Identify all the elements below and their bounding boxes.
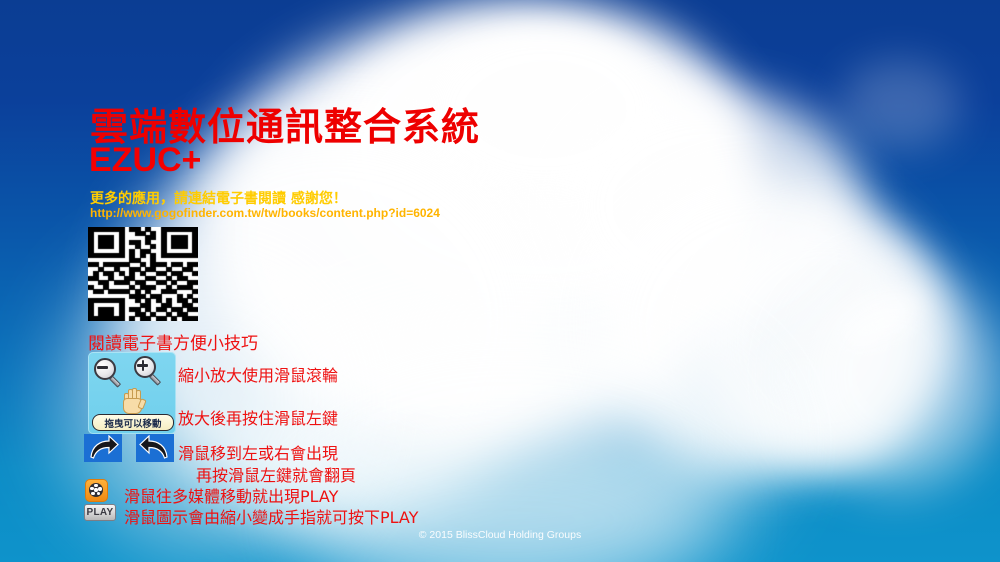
page-title-product: EZUC+ (89, 141, 201, 180)
magnifier-plus-icon (134, 356, 164, 386)
copyright-text: © 2015 BlissCloud Holding Groups (0, 529, 1000, 541)
slide-content: 雲端數位通訊整合系統 EZUC+ 更多的應用，請連結電子書閱讀 感謝您！ htt… (0, 0, 1000, 562)
qr-code-canvas (88, 227, 198, 321)
tips-heading: 閱讀電子書方便小技巧 (88, 329, 258, 354)
reader-hint-panel: 拖曳可以移動 (88, 352, 176, 434)
tip-line-drag: 放大後再按住滑鼠左鍵 (178, 405, 338, 429)
slide-canvas: 雲端數位通訊整合系統 EZUC+ 更多的應用，請連結電子書閱讀 感謝您！ htt… (0, 0, 1000, 562)
tip-line-cursor-finger: 滑鼠圖示會由縮小變成手指就可按下PLAY (124, 504, 418, 528)
arrow-curve-right-icon (84, 434, 122, 462)
tip-line-turn-hover: 滑鼠移到左或右會出現 (178, 440, 338, 464)
film-reel-icon (85, 479, 108, 502)
subtitle-text: 更多的應用，請連結電子書閱讀 感謝您！ (90, 188, 347, 208)
drag-tooltip: 拖曳可以移動 (92, 414, 174, 431)
qr-code[interactable] (88, 227, 198, 321)
arrow-curve-left-icon (136, 434, 174, 462)
ebook-url-link[interactable]: http://www.gogofinder.com.tw/tw/books/co… (90, 206, 440, 220)
play-button-icon[interactable]: PLAY (84, 504, 116, 521)
hand-drag-icon (121, 388, 143, 412)
magnifier-minus-icon (94, 358, 124, 388)
tip-line-zoom: 縮小放大使用滑鼠滾輪 (178, 362, 338, 386)
